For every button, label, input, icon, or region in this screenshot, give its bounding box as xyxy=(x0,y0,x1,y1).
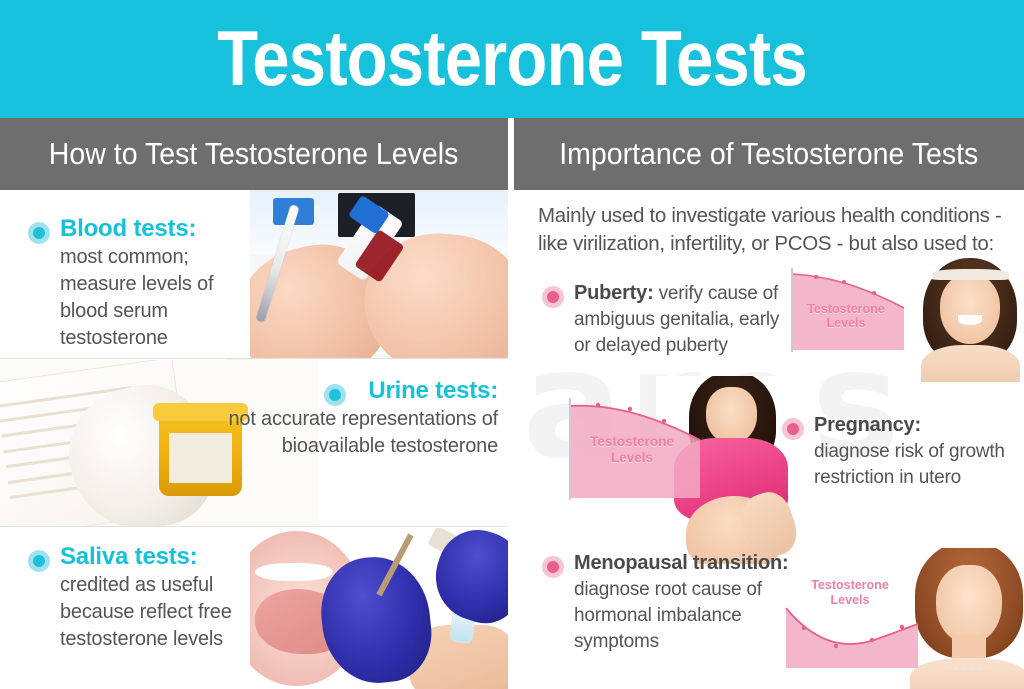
pink-dot-bullet xyxy=(542,286,564,308)
menopausal-transition-lead: Menopausal transition: xyxy=(574,550,809,577)
title-bar: Testosterone Tests xyxy=(0,0,1024,118)
row-divider xyxy=(0,358,508,359)
teen-girl-photo xyxy=(914,258,1024,382)
pregnancy-body: diagnose risk of growth restriction in u… xyxy=(814,439,1014,491)
column-divider xyxy=(508,118,514,689)
saliva-tests-body: credited as useful because reflect free … xyxy=(60,572,290,653)
right-section-header: Importance of Testosterone Tests xyxy=(514,118,1024,190)
chart-pregnancy: Testosterone Levels xyxy=(562,390,702,508)
left-column: Blood tests: most common; measure levels… xyxy=(0,190,508,689)
chart-pregnancy-label-line2: Levels xyxy=(562,450,702,465)
saliva-tests-lead: Saliva tests: xyxy=(60,542,290,572)
page-title: Testosterone Tests xyxy=(72,8,953,108)
pink-dot-bullet xyxy=(542,556,564,578)
urine-tests-lead: Urine tests: xyxy=(160,376,498,406)
puberty-body: ambiguus genitalia, early or delayed pub… xyxy=(574,307,789,359)
right-column: Mainly used to investigate various healt… xyxy=(514,190,1024,689)
right-intro-text: Mainly used to investigate various healt… xyxy=(538,202,1018,258)
infographic-page: shecares Testosterone Tests How to Test … xyxy=(0,0,1024,689)
pink-dot-bullet xyxy=(782,418,804,440)
blood-draw-photo xyxy=(250,190,508,358)
chart-puberty-label-line2: Levels xyxy=(786,316,906,330)
row-divider xyxy=(0,526,508,527)
left-section-heading-label: How to Test Testosterone Levels xyxy=(49,137,459,171)
blood-tests-body: most common; measure levels of blood ser… xyxy=(60,244,250,352)
puberty-lead: Puberty: xyxy=(574,282,654,304)
pregnancy-lead: Pregnancy: xyxy=(814,412,1014,439)
chart-pregnancy-label-line1: Testosterone xyxy=(562,434,702,449)
cyan-dot-bullet xyxy=(28,222,50,244)
urine-tests-body: not accurate representations of bioavail… xyxy=(160,406,498,460)
chart-puberty-label-line1: Testosterone xyxy=(786,302,906,316)
list-item: Saliva tests: credited as useful because… xyxy=(0,528,508,689)
puberty-body-inline: verify cause of xyxy=(654,283,779,304)
list-item: Urine tests: not accurate representation… xyxy=(0,360,508,526)
blood-tests-lead: Blood tests: xyxy=(60,214,250,244)
left-section-header: How to Test Testosterone Levels xyxy=(0,118,508,190)
mature-woman-photo xyxy=(910,548,1024,689)
list-item: Blood tests: most common; measure levels… xyxy=(0,190,508,358)
chart-puberty: Testosterone Levels xyxy=(786,262,906,358)
puberty-lead-line: Puberty: verify cause of xyxy=(574,280,789,307)
menopausal-transition-body: diagnose root cause of hormonal imbalanc… xyxy=(574,577,809,655)
right-section-heading-label: Importance of Testosterone Tests xyxy=(559,137,978,171)
cyan-dot-bullet xyxy=(28,550,50,572)
